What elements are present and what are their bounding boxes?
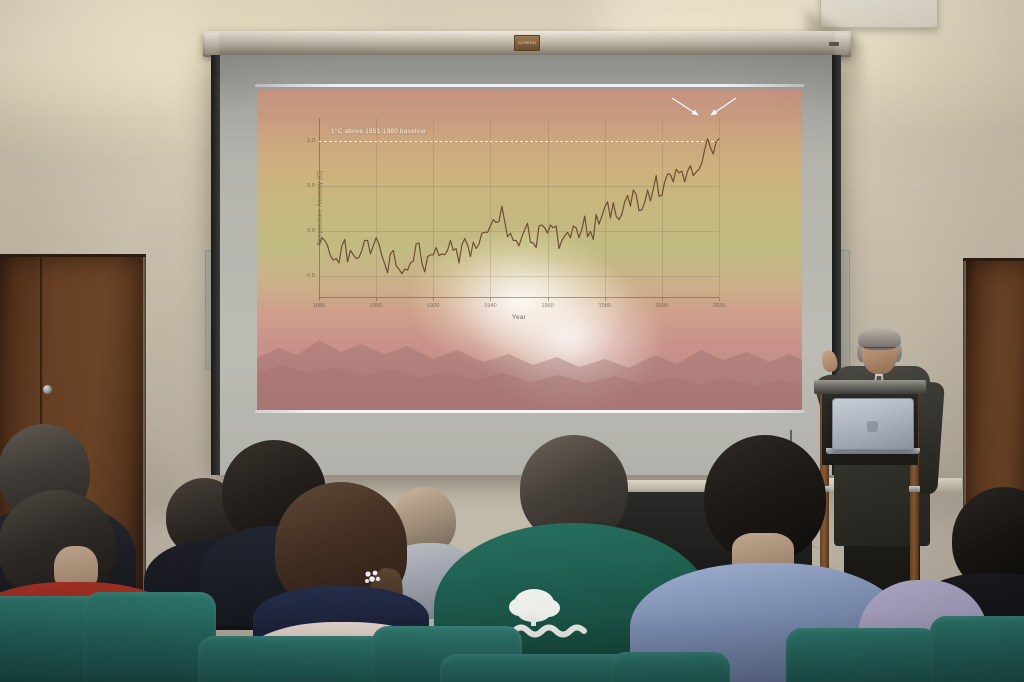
x-tick-label: 1980: [598, 303, 610, 309]
screen-pull-tab[interactable]: [829, 42, 839, 46]
x-tick-mark: [548, 298, 549, 301]
presenter-left-hand: [820, 349, 839, 374]
screen-housing[interactable]: SCREEN: [203, 31, 851, 57]
chart-peak-arrows: [279, 90, 759, 152]
ceiling-light-wash-left: [0, 0, 190, 90]
x-tick-mark: [605, 298, 606, 301]
seat-3[interactable]: [198, 636, 388, 682]
x-tick-mark: [719, 298, 720, 301]
y-tick-label: -0.5: [305, 273, 315, 279]
screen-surface: Temperature Anomaly (C) Year 18801900192…: [211, 55, 841, 475]
x-tick-label: 1900: [370, 303, 382, 309]
x-tick-label: 1880: [313, 303, 325, 309]
wall-sign-panel: [820, 0, 938, 28]
x-tick-mark: [662, 298, 663, 301]
x-tick-label: 2000: [656, 303, 668, 309]
projection-top-border: [255, 84, 804, 87]
x-tick-mark: [433, 298, 434, 301]
x-tick-label: 1960: [541, 303, 553, 309]
lectern-top: [814, 380, 926, 394]
x-tick-mark: [376, 298, 377, 301]
projected-slide: Temperature Anomaly (C) Year 18801900192…: [257, 90, 802, 410]
screen-edge-left: [211, 55, 220, 475]
y-tick-label: 0.5: [307, 183, 315, 189]
laptop-logo: [867, 421, 878, 432]
seat-8[interactable]: [930, 616, 1024, 682]
screen-brand-plate: SCREEN: [514, 35, 540, 51]
projector-screen: SCREEN Temperature Anom: [203, 31, 851, 476]
screen-brand-label: SCREEN: [515, 40, 539, 45]
x-tick-mark: [490, 298, 491, 301]
x-tick-mark: [319, 298, 320, 301]
seat-6[interactable]: [610, 652, 730, 682]
presenter-glasses: [864, 347, 895, 354]
y-tick-label: 0.0: [307, 228, 315, 234]
projection-bottom-border: [255, 410, 804, 413]
seat-2[interactable]: [84, 592, 216, 682]
door-left-knob[interactable]: [43, 385, 52, 394]
x-tick-label: 1920: [427, 303, 439, 309]
slide-mountain-silhouette: [257, 310, 802, 410]
lecture-hall-photo: SCREEN Temperature Anom: [0, 0, 1024, 682]
x-tick-label: 2020: [713, 303, 725, 309]
chart-x-axis-label: Year: [512, 314, 527, 321]
seat-7[interactable]: [786, 628, 938, 682]
x-tick-label: 1940: [484, 303, 496, 309]
hair-clip-icon: [363, 570, 383, 586]
temperature-anomaly-chart: Temperature Anomaly (C) Year 18801900192…: [319, 118, 719, 298]
lectern-brace-right: [909, 486, 920, 492]
screen-housing-cap-left: [205, 33, 219, 55]
